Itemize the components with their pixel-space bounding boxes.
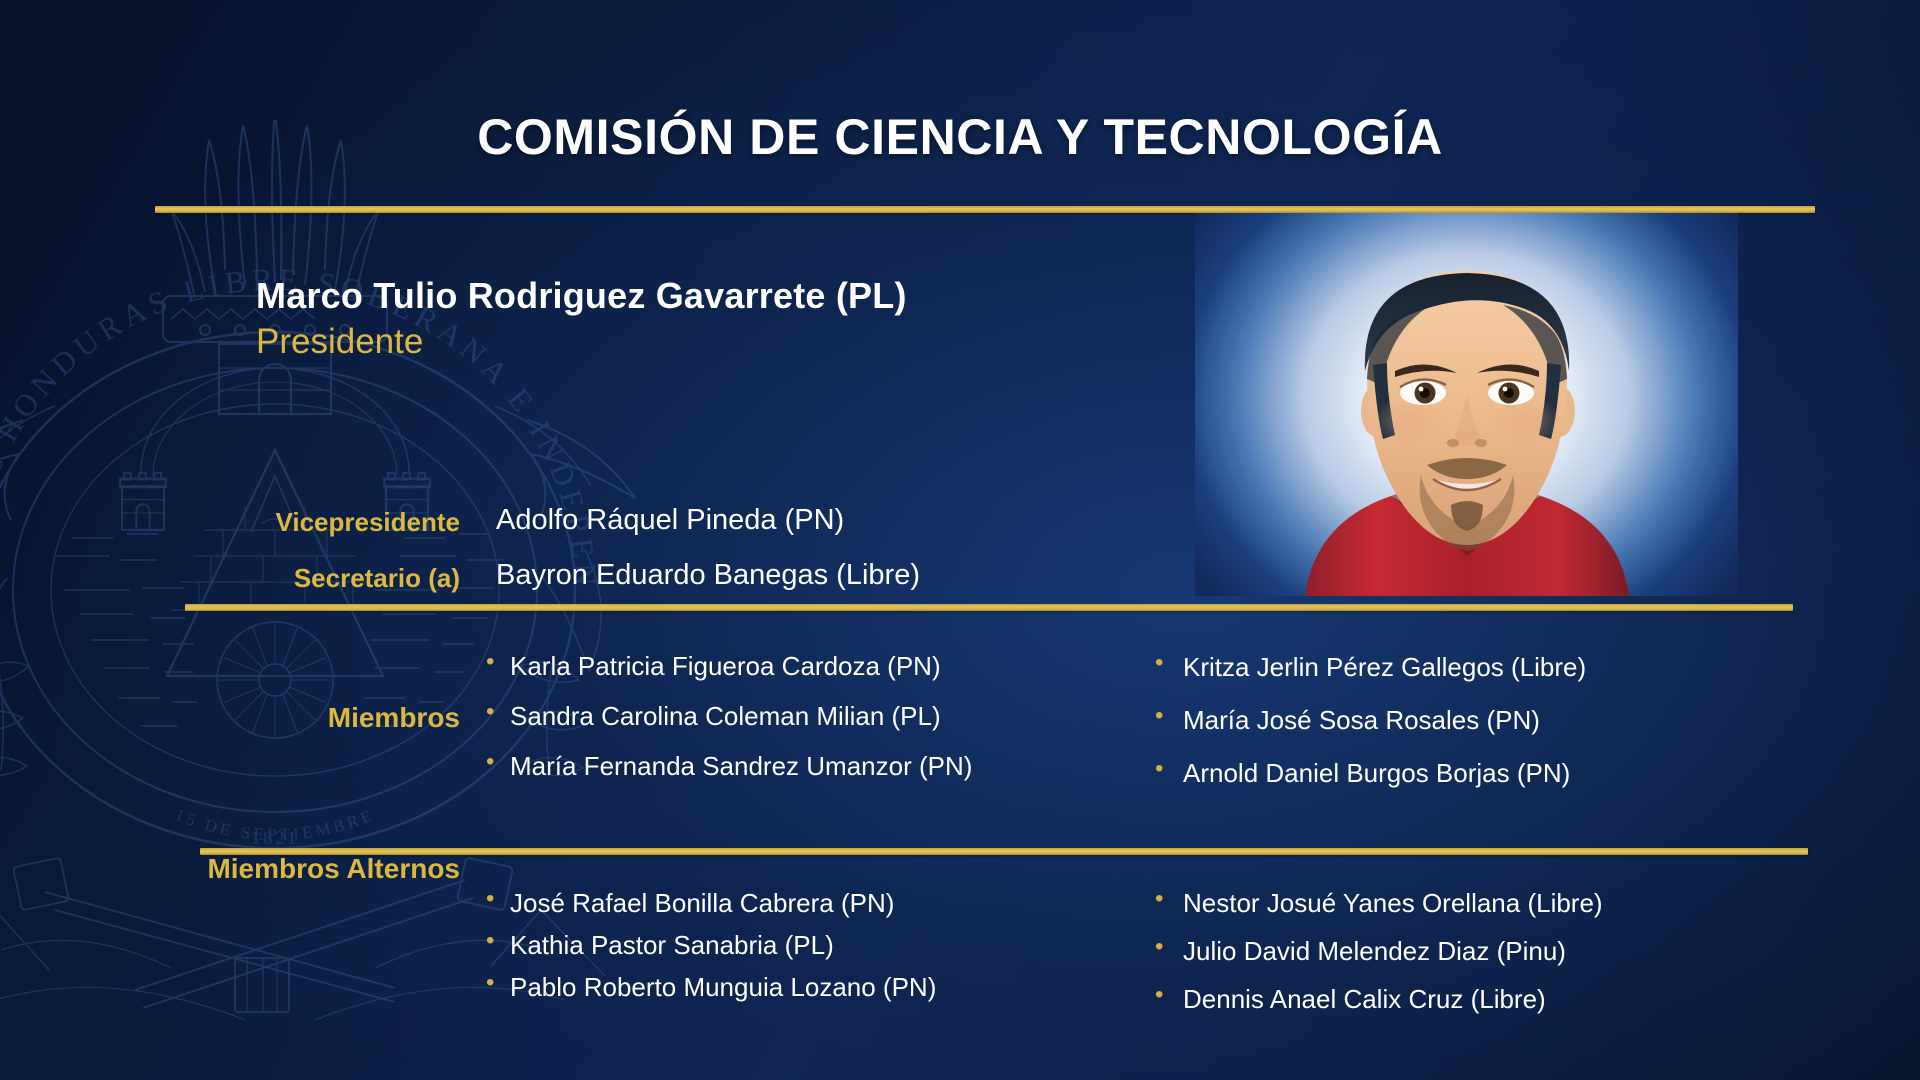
vicepresidente-name: Adolfo Ráquel Pineda (PN): [496, 504, 1176, 537]
svg-text:15 DE SEPTIEMBRE: 15 DE SEPTIEMBRE: [172, 805, 377, 844]
president-role: Presidente: [256, 322, 1156, 362]
slide-root: REPÚBLICA DE HONDURAS LIBRE SOBERANA E I…: [0, 0, 1920, 1080]
list-item: Kritza Jerlin Pérez Gallegos (Libre): [1155, 652, 1586, 683]
list-item: José Rafael Bonilla Cabrera (PN): [486, 888, 936, 919]
miembros-list-left: Karla Patricia Figueroa Cardoza (PN) San…: [486, 651, 972, 801]
list-item: Kathia Pastor Sanabria (PL): [486, 930, 936, 961]
list-item: Dennis Anael Calix Cruz (Libre): [1155, 984, 1603, 1015]
emblem-year: 1821: [251, 828, 299, 849]
list-item: Arnold Daniel Burgos Borjas (PN): [1155, 758, 1586, 789]
divider-middle: [185, 604, 1793, 611]
list-item: Karla Patricia Figueroa Cardoza (PN): [486, 651, 972, 682]
list-item: Sandra Carolina Coleman Milian (PL): [486, 701, 972, 732]
list-item: María Fernanda Sandrez Umanzor (PN): [486, 751, 972, 782]
secretario-name: Bayron Eduardo Banegas (Libre): [496, 559, 1176, 592]
president-portrait: [1195, 213, 1738, 596]
page-title: COMISIÓN DE CIENCIA Y TECNOLOGÍA: [0, 108, 1920, 166]
list-item: María José Sosa Rosales (PN): [1155, 705, 1586, 736]
miembros-list-right: Kritza Jerlin Pérez Gallegos (Libre) Mar…: [1155, 652, 1586, 811]
president-name: Marco Tulio Rodriguez Gavarrete (PL): [256, 275, 1156, 317]
miembros-label: Miembros: [0, 702, 460, 734]
divider-top: [155, 206, 1815, 213]
list-item: Nestor Josué Yanes Orellana (Libre): [1155, 888, 1603, 919]
miembros-alternos-label: Miembros Alternos: [0, 853, 460, 885]
vicepresidente-label: Vicepresidente: [0, 507, 460, 538]
miembros-alternos-list-left: José Rafael Bonilla Cabrera (PN) Kathia …: [486, 888, 936, 1014]
secretario-label: Secretario (a): [0, 563, 460, 594]
list-item: Pablo Roberto Munguia Lozano (PN): [486, 972, 936, 1003]
miembros-alternos-list-right: Nestor Josué Yanes Orellana (Libre) Juli…: [1155, 888, 1603, 1032]
list-item: Julio David Melendez Diaz (Pinu): [1155, 936, 1603, 967]
emblem-ring-text-bottom: 15 DE SEPTIEMBRE: [172, 805, 377, 844]
